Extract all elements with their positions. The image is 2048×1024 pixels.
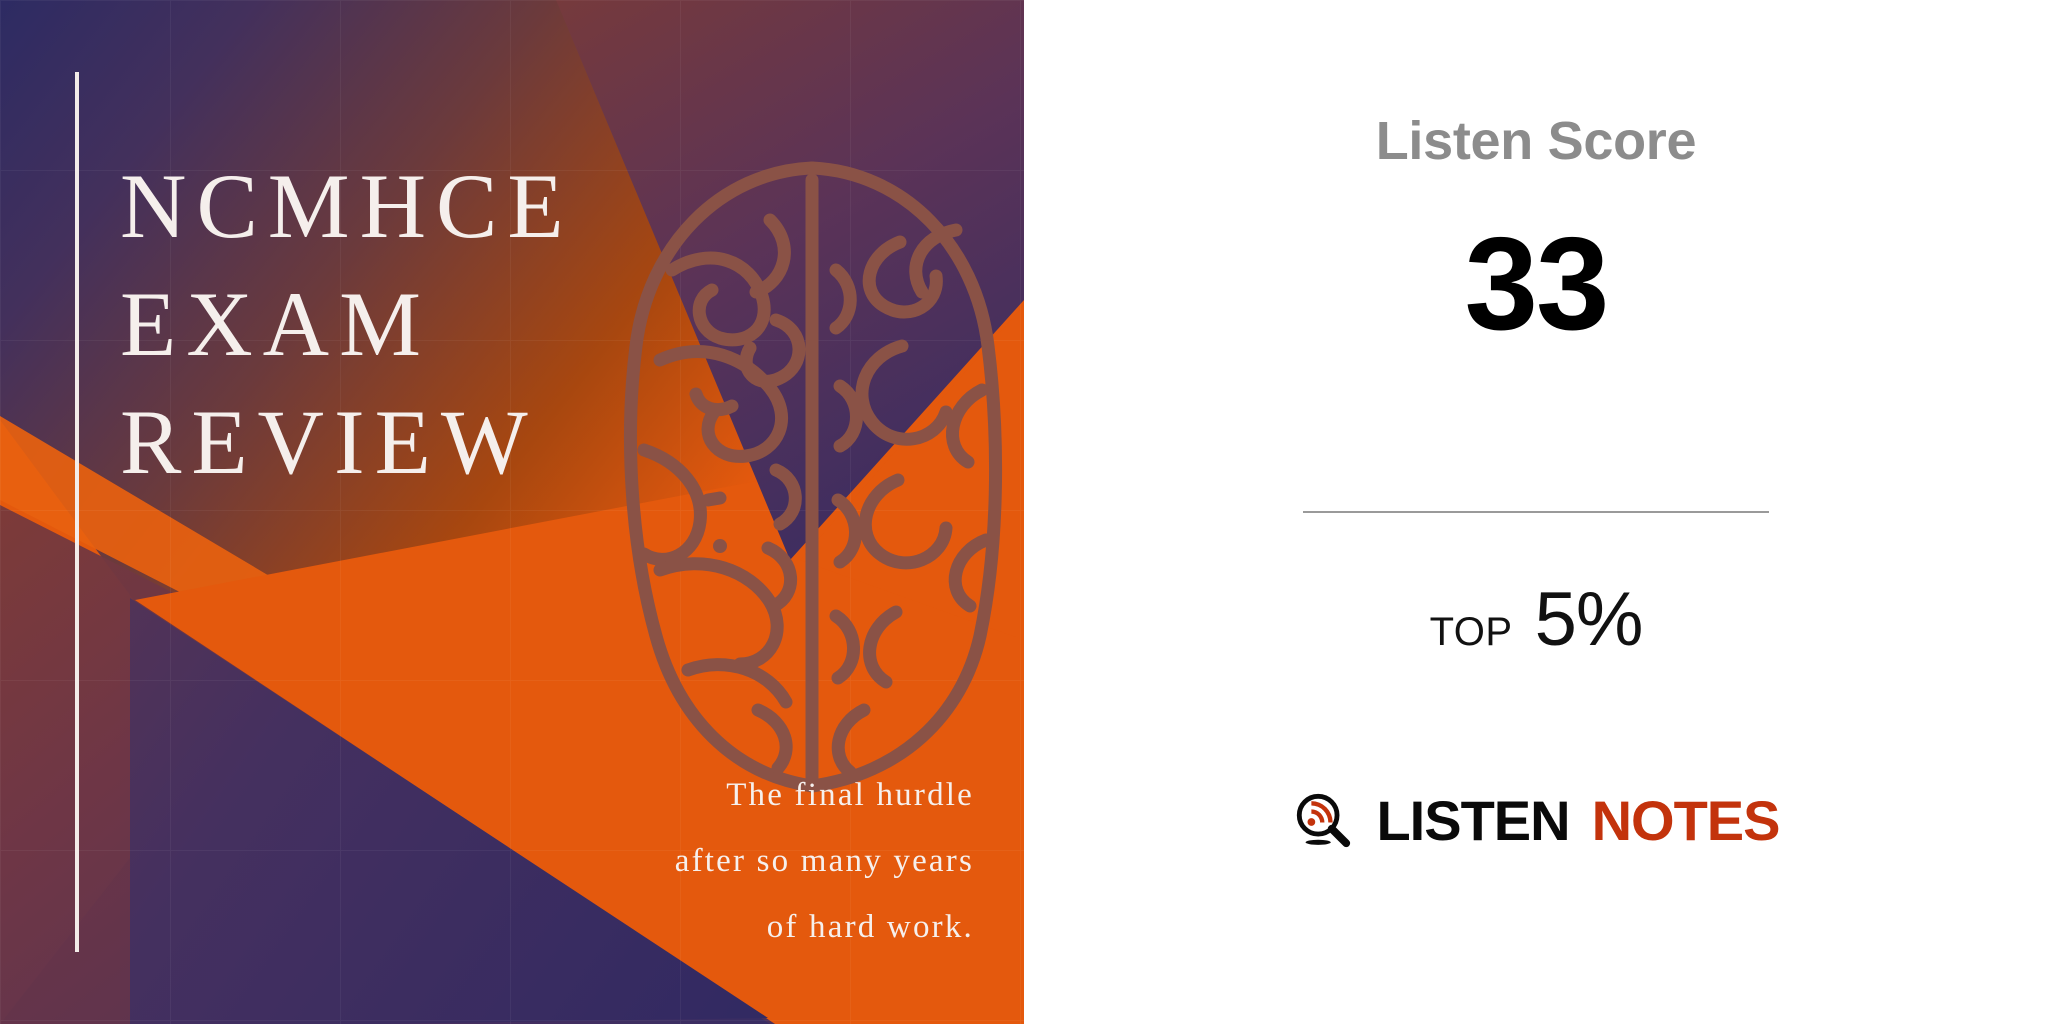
listen-score-value: 33 — [1024, 218, 2048, 350]
cover-title-line-3: REVIEW — [120, 384, 680, 502]
listen-score-heading: Listen Score — [1024, 110, 2048, 172]
vertical-rule — [75, 72, 79, 952]
rank-value: 5% — [1535, 576, 1643, 663]
cover-tagline: The final hurdle after so many years of … — [514, 762, 974, 960]
cover-tagline-line-2: after so many years — [514, 828, 974, 894]
magnifier-rss-icon — [1292, 790, 1354, 852]
cover-title-line-1: NCMHCE — [120, 148, 680, 266]
rank-label: TOP — [1430, 610, 1513, 655]
divider — [1303, 511, 1769, 513]
listen-score-card: NCMHCE EXAM REVIEW The final hurdle afte… — [0, 0, 2048, 1024]
brand-word-notes: NOTES — [1592, 793, 1780, 849]
listen-score-rank: TOP 5% — [1024, 576, 2048, 663]
cover-title-line-2: EXAM — [120, 266, 680, 384]
podcast-cover-art[interactable]: NCMHCE EXAM REVIEW The final hurdle afte… — [0, 0, 1024, 1024]
listen-score-panel: Listen Score 33 TOP 5% LISTEN NOTES — [1024, 0, 2048, 1024]
listen-notes-logo[interactable]: LISTEN NOTES — [1024, 790, 2048, 852]
cover-title: NCMHCE EXAM REVIEW — [120, 148, 680, 501]
cover-tagline-line-3: of hard work. — [514, 894, 974, 960]
cover-tagline-line-1: The final hurdle — [514, 762, 974, 828]
brand-word-listen: LISTEN — [1376, 793, 1569, 849]
